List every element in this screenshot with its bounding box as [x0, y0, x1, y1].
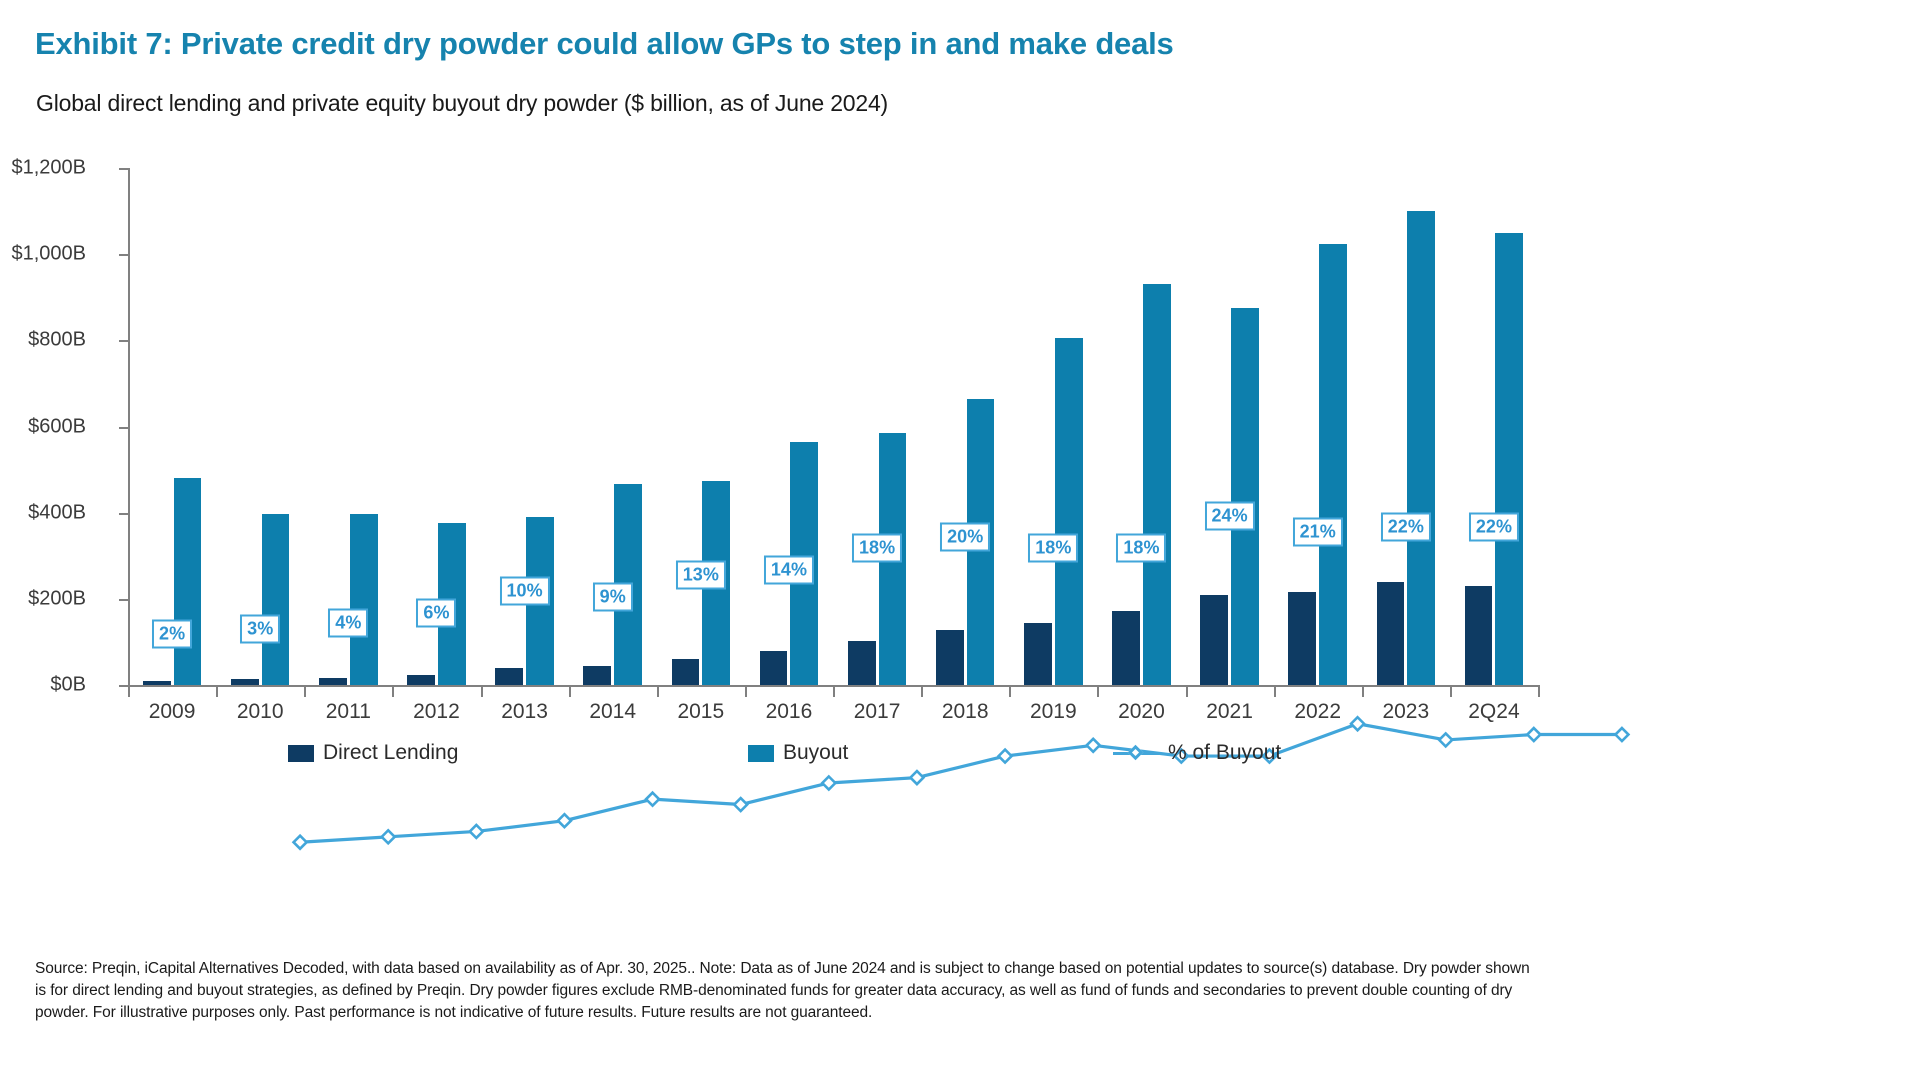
- y-tick-label: $800B: [28, 329, 86, 352]
- x-tick-label: 2016: [766, 700, 813, 724]
- source-note: Source: Preqin, iCapital Alternatives De…: [35, 958, 1535, 1024]
- x-tick-mark: [745, 687, 747, 697]
- x-tick-mark: [1009, 687, 1011, 697]
- legend-swatch-blue-icon: [748, 745, 774, 762]
- legend-label-percent-of-buyout: % of Buyout: [1168, 741, 1281, 765]
- bar-direct-lending: [407, 675, 435, 685]
- y-tick-label: $1,200B: [11, 157, 86, 180]
- bar-buyout: [1055, 338, 1083, 685]
- percent-data-label: 10%: [500, 577, 550, 606]
- x-tick-label: 2023: [1382, 700, 1429, 724]
- y-tick-label: $1,000B: [11, 243, 86, 266]
- percent-data-label: 18%: [1028, 534, 1078, 563]
- legend-swatch-navy-icon: [288, 745, 314, 762]
- percent-data-label: 9%: [593, 582, 633, 611]
- x-tick-label: 2012: [413, 700, 460, 724]
- percent-data-label: 14%: [764, 555, 814, 584]
- percent-point-marker: [382, 830, 395, 843]
- legend-label-direct-lending: Direct Lending: [323, 741, 458, 765]
- chart-subtitle: Global direct lending and private equity…: [36, 90, 888, 117]
- percent-data-label: 4%: [328, 609, 368, 638]
- x-tick-mark: [481, 687, 483, 697]
- x-tick-mark: [1538, 687, 1540, 697]
- x-tick-label: 2Q24: [1468, 700, 1519, 724]
- percent-data-label: 22%: [1469, 512, 1519, 541]
- y-tick-mark: [119, 168, 128, 170]
- percent-data-label: 20%: [940, 523, 990, 552]
- chart-legend: Direct Lending Buyout % of Buyout: [128, 735, 1540, 775]
- legend-line-diamond-icon: [1113, 744, 1159, 762]
- bar-direct-lending: [760, 651, 788, 685]
- percent-point-marker: [646, 793, 659, 806]
- x-tick-mark: [128, 687, 130, 697]
- bar-direct-lending: [1377, 582, 1405, 685]
- bar-direct-lending: [1024, 623, 1052, 685]
- percent-point-marker: [558, 814, 571, 827]
- y-tick-label: $200B: [28, 587, 86, 610]
- x-tick-mark: [833, 687, 835, 697]
- y-tick-mark: [119, 685, 128, 687]
- x-tick-mark: [657, 687, 659, 697]
- x-tick-mark: [1097, 687, 1099, 697]
- bar-buyout: [1495, 233, 1523, 685]
- y-tick-mark: [119, 513, 128, 515]
- y-tick-label: $400B: [28, 501, 86, 524]
- legend-item-percent-of-buyout[interactable]: % of Buyout: [1113, 741, 1281, 765]
- y-tick-mark: [119, 340, 128, 342]
- x-tick-label: 2018: [942, 700, 989, 724]
- legend-item-direct-lending[interactable]: Direct Lending: [288, 741, 458, 765]
- x-tick-label: 2022: [1294, 700, 1341, 724]
- y-tick-mark: [119, 599, 128, 601]
- percent-point-marker: [470, 825, 483, 838]
- bar-direct-lending: [143, 681, 171, 685]
- bar-direct-lending: [848, 641, 876, 685]
- x-tick-mark: [921, 687, 923, 697]
- y-tick-mark: [119, 254, 128, 256]
- percent-data-label: 13%: [676, 560, 726, 589]
- x-tick-mark: [1274, 687, 1276, 697]
- legend-diamond-marker-icon: [1128, 745, 1144, 761]
- percent-data-label: 18%: [852, 534, 902, 563]
- percent-data-label: 18%: [1116, 534, 1166, 563]
- x-tick-mark: [569, 687, 571, 697]
- bar-direct-lending: [1200, 595, 1228, 685]
- bar-buyout: [174, 478, 202, 685]
- x-tick-mark: [216, 687, 218, 697]
- bar-direct-lending: [1112, 611, 1140, 685]
- bar-buyout: [262, 514, 290, 685]
- bar-direct-lending: [319, 678, 347, 685]
- bar-buyout: [1231, 308, 1259, 685]
- x-tick-mark: [392, 687, 394, 697]
- x-tick-label: 2017: [854, 700, 901, 724]
- bar-buyout: [1319, 244, 1347, 685]
- y-tick-mark: [119, 427, 128, 429]
- bar-direct-lending: [231, 679, 259, 685]
- bar-direct-lending: [1465, 586, 1493, 685]
- percent-point-marker: [822, 776, 835, 789]
- x-tick-label: 2015: [677, 700, 724, 724]
- y-tick-label: $600B: [28, 415, 86, 438]
- bar-direct-lending: [672, 659, 700, 685]
- x-tick-label: 2021: [1206, 700, 1253, 724]
- bar-direct-lending: [583, 666, 611, 685]
- legend-item-buyout[interactable]: Buyout: [748, 741, 848, 765]
- x-tick-mark: [304, 687, 306, 697]
- bar-direct-lending: [936, 630, 964, 685]
- x-tick-label: 2019: [1030, 700, 1077, 724]
- percent-data-label: 3%: [240, 614, 280, 643]
- x-tick-label: 2013: [501, 700, 548, 724]
- bar-buyout: [1407, 211, 1435, 685]
- percent-data-label: 6%: [416, 598, 456, 627]
- percent-line-series: [256, 336, 1666, 854]
- bar-direct-lending: [495, 668, 523, 685]
- exhibit-page: Exhibit 7: Private credit dry powder cou…: [0, 0, 1560, 1080]
- bar-buyout: [1143, 284, 1171, 685]
- percent-point-marker: [1615, 728, 1628, 741]
- page-title: Exhibit 7: Private credit dry powder cou…: [35, 26, 1174, 62]
- bar-direct-lending: [1288, 592, 1316, 685]
- percent-data-label: 21%: [1293, 517, 1343, 546]
- x-tick-mark: [1450, 687, 1452, 697]
- x-tick-mark: [1186, 687, 1188, 697]
- x-tick-label: 2009: [149, 700, 196, 724]
- percent-point-marker: [1351, 717, 1364, 730]
- percent-data-label: 24%: [1205, 501, 1255, 530]
- plot-area: $0B$200B$400B$600B$800B$1,000B$1,200B 2%…: [128, 168, 1538, 685]
- y-tick-label: $0B: [50, 674, 86, 697]
- percent-point-marker: [734, 798, 747, 811]
- x-tick-mark: [1362, 687, 1364, 697]
- bar-buyout: [350, 514, 378, 685]
- percent-point-marker: [294, 836, 307, 849]
- x-tick-label: 2020: [1118, 700, 1165, 724]
- percent-data-label: 22%: [1381, 512, 1431, 541]
- x-tick-label: 2010: [237, 700, 284, 724]
- legend-label-buyout: Buyout: [783, 741, 848, 765]
- x-tick-label: 2014: [589, 700, 636, 724]
- percent-data-label: 2%: [152, 620, 192, 649]
- x-tick-label: 2011: [326, 700, 371, 724]
